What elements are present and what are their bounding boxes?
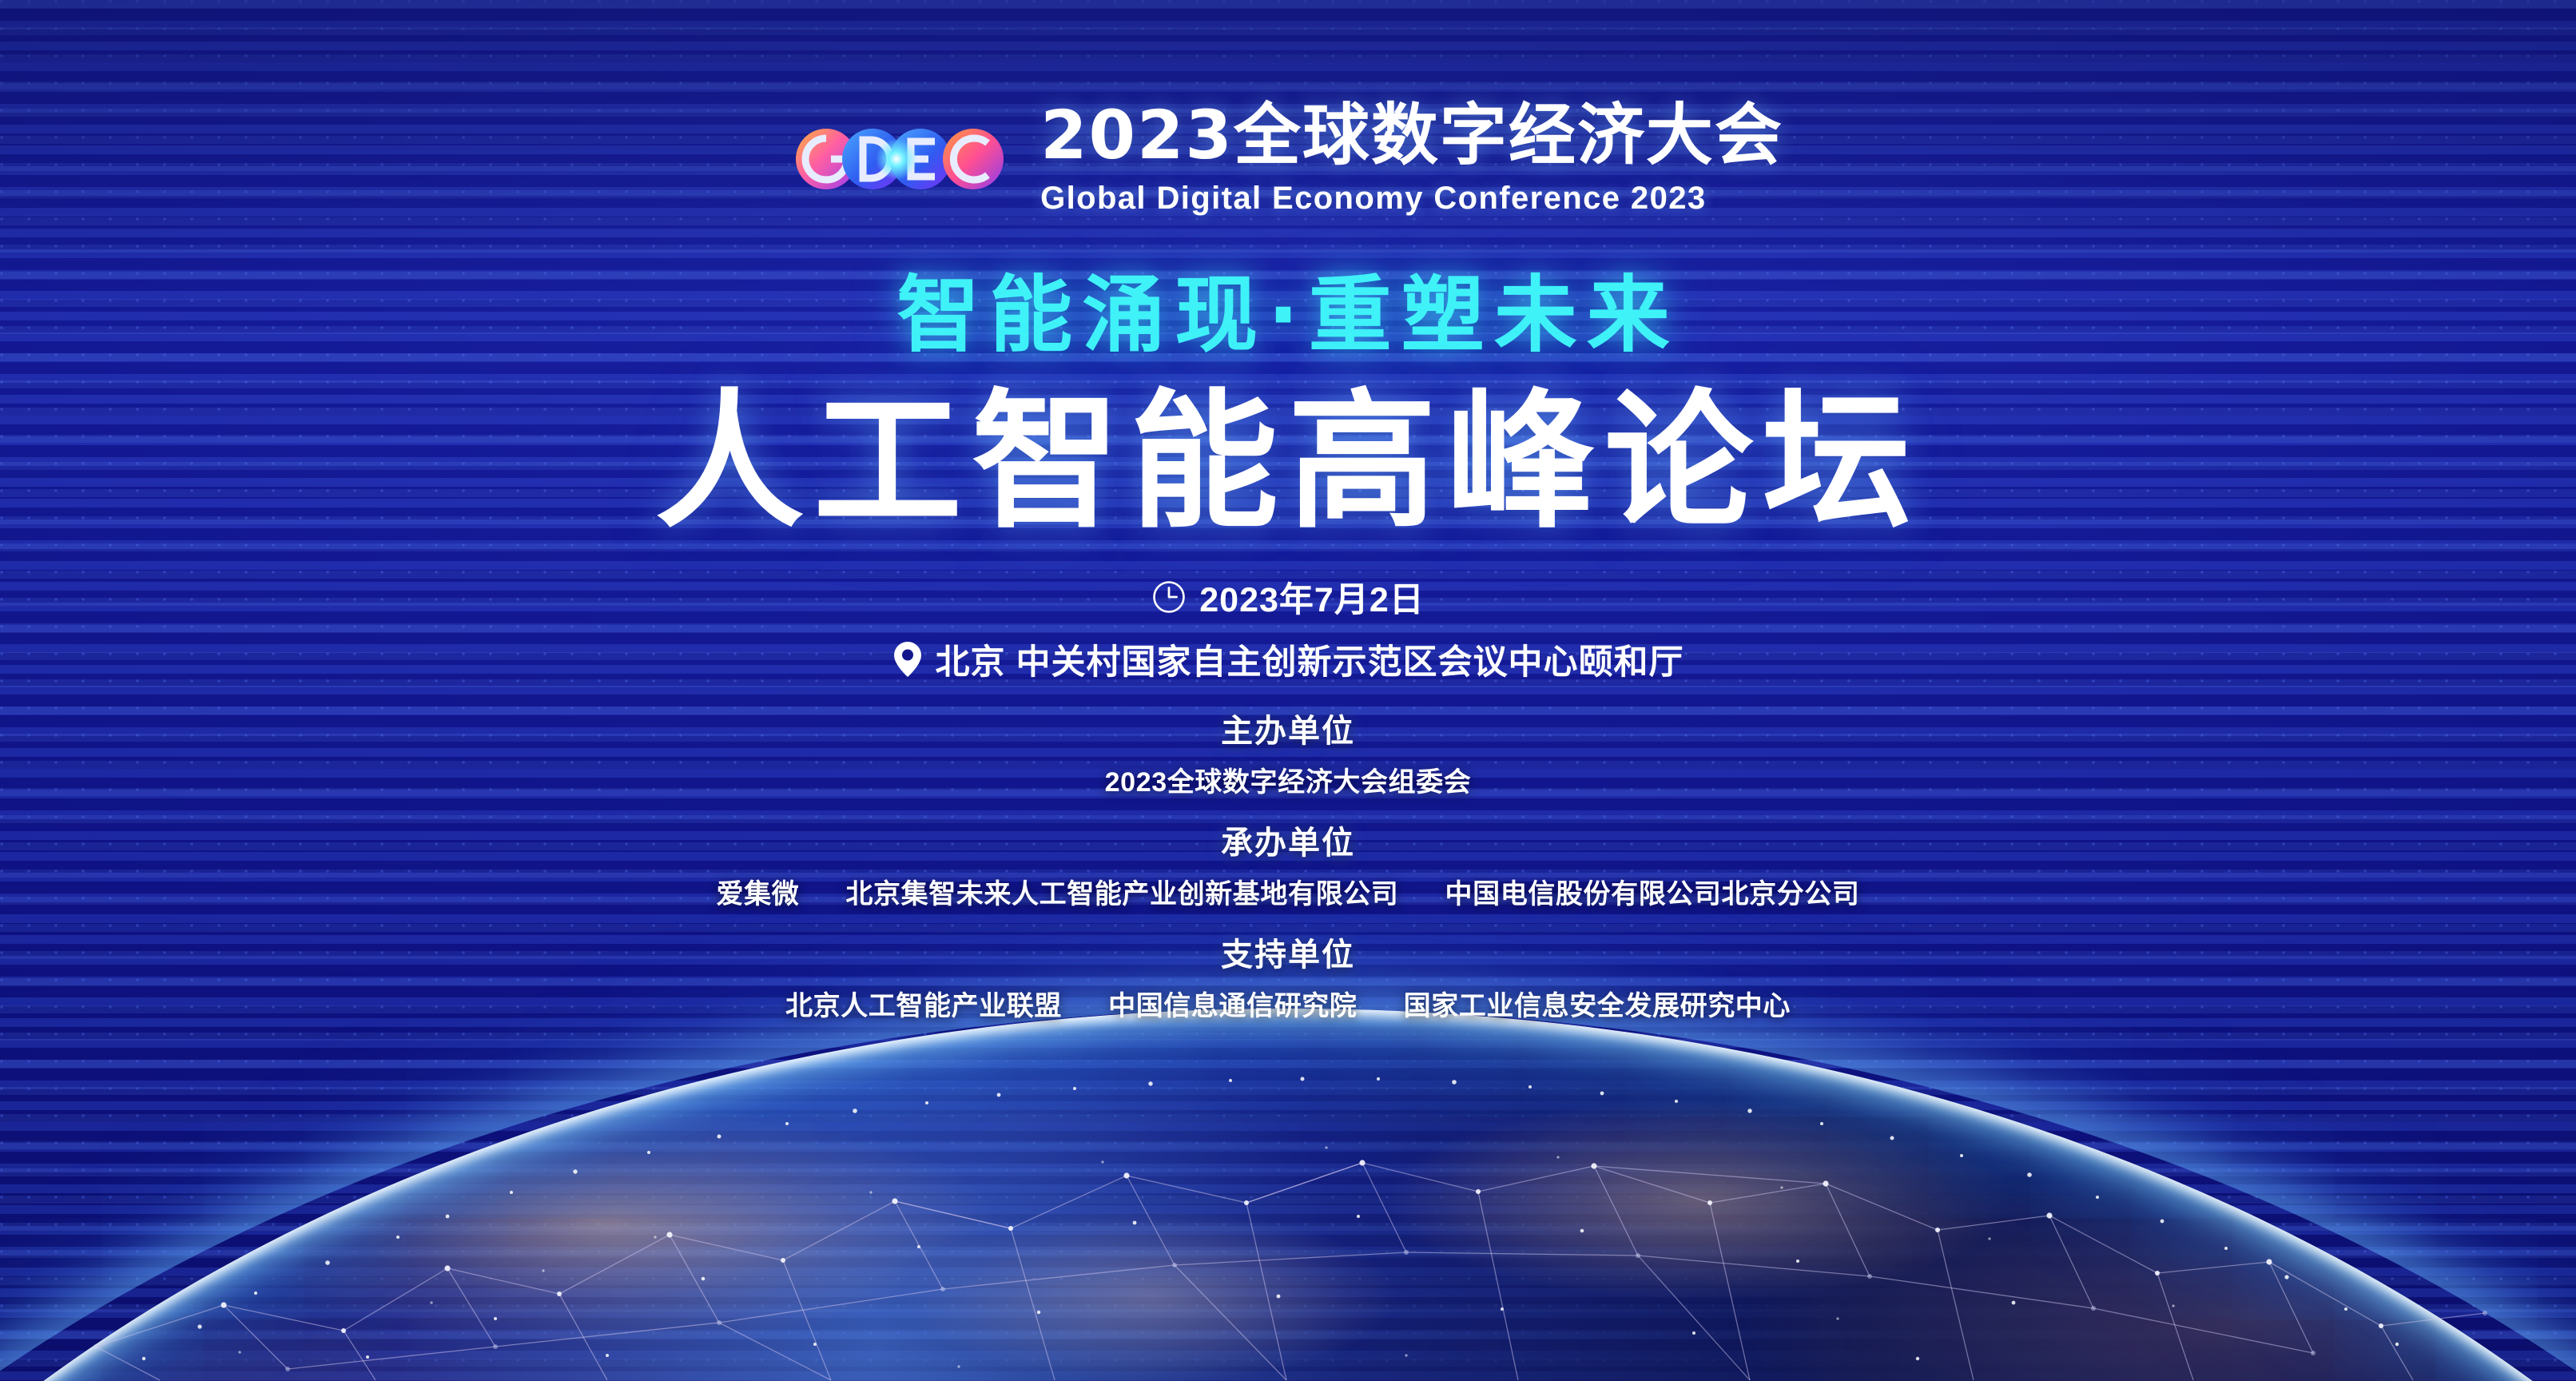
credit-entry: 2023全球数字经济大会组委会 [1105, 767, 1472, 798]
credit-entry: 爱集微 [717, 879, 800, 909]
conference-poster: 2023全球数字经济大会 Global Digital Economy Conf… [0, 0, 2576, 1381]
event-date-row: 2023年7月2日 [1151, 572, 1425, 622]
conference-title-en: Global Digital Economy Conference 2023 [1040, 178, 1706, 218]
page-title: 人工智能高峰论坛 [655, 379, 1921, 545]
credit-heading: 支持单位 [1221, 929, 1355, 975]
credit-block-supporter: 支持单位 北京人工智能产业联盟 中国信息通信研究院 国家工业信息安全发展研究中心 [785, 929, 1791, 1023]
credit-heading: 主办单位 [1221, 705, 1355, 751]
conference-title-cn: 2023全球数字经济大会 [1040, 101, 1783, 170]
credit-entries: 北京人工智能产业联盟 中国信息通信研究院 国家工业信息安全发展研究中心 [785, 984, 1791, 1023]
clock-icon [1151, 579, 1187, 615]
credit-entry: 北京人工智能产业联盟 [785, 991, 1062, 1021]
credits-section: 主办单位 2023全球数字经济大会组委会 承办单位 爱集微 北京集智未来人工智能… [717, 705, 1860, 1023]
credit-block-organizer: 主办单位 2023全球数字经济大会组委会 [1105, 705, 1472, 799]
header-text: 2023全球数字经济大会 Global Digital Economy Conf… [1040, 101, 1783, 218]
location-pin-icon [892, 640, 923, 679]
credit-block-co-organizer: 承办单位 爱集微 北京集智未来人工智能产业创新基地有限公司 中国电信股份有限公司… [717, 817, 1860, 911]
poster-content: 2023全球数字经济大会 Global Digital Economy Conf… [0, 0, 2576, 1381]
credit-entry: 中国信息通信研究院 [1108, 991, 1357, 1021]
credit-entries: 爱集微 北京集智未来人工智能产业创新基地有限公司 中国电信股份有限公司北京分公司 [717, 872, 1860, 911]
header-lockup: 2023全球数字经济大会 Global Digital Economy Conf… [793, 101, 1783, 218]
event-venue-row: 北京 中关村国家自主创新示范区会议中心颐和厅 [892, 635, 1684, 684]
credit-heading: 承办单位 [1221, 817, 1355, 863]
event-date: 2023年7月2日 [1199, 572, 1425, 622]
slogan: 智能涌现·重塑未来 [896, 247, 1680, 368]
credit-entries: 2023全球数字经济大会组委会 [1105, 760, 1472, 799]
credit-entry: 国家工业信息安全发展研究中心 [1404, 991, 1791, 1021]
gdec-logo [793, 111, 1013, 207]
credit-entry: 中国电信股份有限公司北京分公司 [1445, 879, 1860, 909]
credit-entry: 北京集智未来人工智能产业创新基地有限公司 [845, 879, 1398, 909]
event-venue: 北京 中关村国家自主创新示范区会议中心颐和厅 [936, 635, 1684, 684]
